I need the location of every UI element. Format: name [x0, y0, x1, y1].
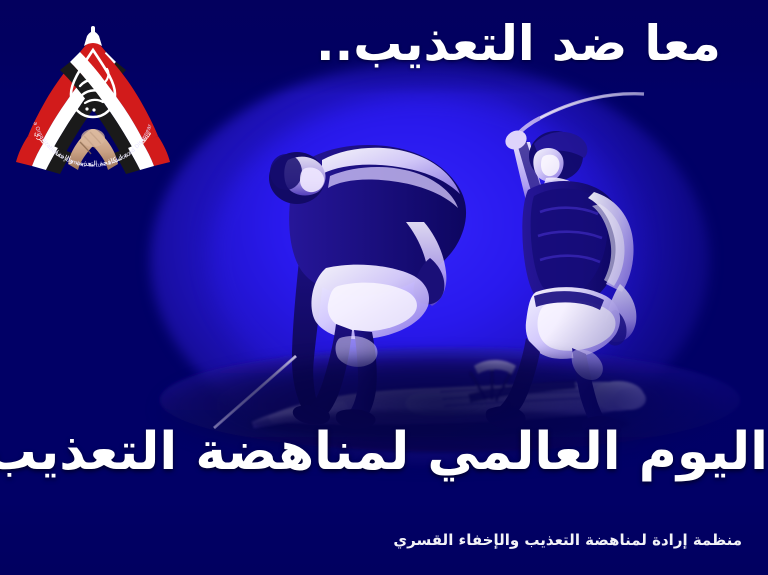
headline-together-against-torture: معا ضد التعذيب..	[316, 16, 746, 72]
organization-logo: منظمة إرادة لمكافحة التعذيب والإخفاء الق…	[8, 14, 178, 184]
page-title-international-day: اليوم العالمي لمناهضة التعذيب	[0, 424, 768, 481]
footer-organization-name: منظمة إرادة لمناهضة التعذيب والإخفاء الق…	[393, 531, 742, 549]
poster-canvas: منظمة إرادة لمكافحة التعذيب والإخفاء الق…	[0, 0, 768, 575]
